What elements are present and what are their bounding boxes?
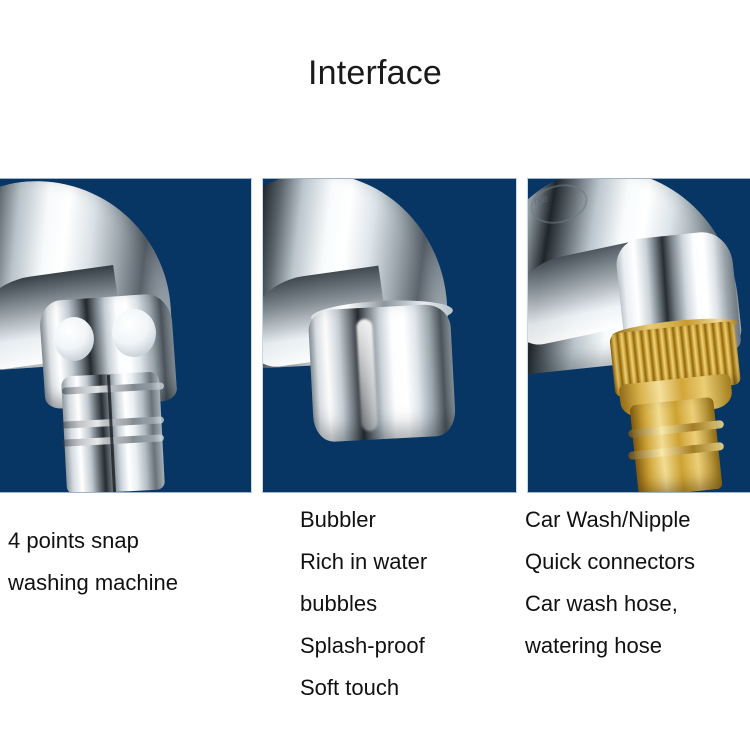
faucet-spout-arm-icon bbox=[527, 178, 744, 377]
product-image-panels: nile bbox=[0, 178, 750, 493]
brass-shoulder-icon bbox=[619, 373, 734, 419]
caption-column-bubbler: Bubbler Rich in water bubbles Splash-pro… bbox=[300, 493, 520, 709]
caption-line: Splash-proof bbox=[300, 625, 520, 667]
panel-divider-2 bbox=[517, 178, 527, 493]
brass-ring-upper-icon bbox=[628, 420, 724, 438]
bubbler-cap-highlight-icon bbox=[356, 319, 378, 432]
brass-ring-lower-icon bbox=[628, 442, 724, 460]
barrel-ring-low-icon bbox=[62, 434, 164, 446]
product-image-panel-car-wash-nipple: nile bbox=[527, 178, 750, 493]
caption-line: Car Wash/Nipple bbox=[525, 499, 750, 541]
caption-line: Quick connectors bbox=[525, 541, 750, 583]
barrel-ring-mid-icon bbox=[62, 416, 164, 428]
caption-line: Bubbler bbox=[300, 499, 520, 541]
bubbler-cap-rim-icon bbox=[310, 297, 453, 330]
snap-button-right-icon bbox=[112, 309, 156, 357]
caption-line: Soft touch bbox=[300, 667, 520, 709]
product-image-panel-bubbler bbox=[262, 178, 517, 493]
brass-knurl-rim-icon bbox=[612, 314, 739, 343]
barrel-ring-top-icon bbox=[62, 382, 164, 394]
chrome-spout-tip-icon bbox=[614, 229, 742, 362]
caption-line: washing machine bbox=[8, 562, 252, 604]
brass-knurled-nut-icon bbox=[609, 321, 741, 398]
caption-line: bubbles bbox=[300, 583, 520, 625]
caption-line: watering hose bbox=[525, 625, 750, 667]
page-title: Interface bbox=[0, 52, 750, 94]
panel-divider-1 bbox=[252, 178, 262, 493]
faucet-spout-underside-icon bbox=[527, 242, 645, 349]
faucet-spout-arm-icon bbox=[262, 178, 450, 371]
brand-engraving-label: nile bbox=[533, 194, 549, 208]
caption-line: Rich in water bbox=[300, 541, 520, 583]
bubbler-aerator-cap-icon bbox=[308, 303, 457, 442]
snap-button-left-icon bbox=[54, 317, 94, 361]
caption-line: Car wash hose, bbox=[525, 583, 750, 625]
barrel-seam-icon bbox=[107, 375, 116, 493]
caption-columns: 4 points snap washing machine Bubbler Ri… bbox=[0, 493, 750, 750]
caption-column-car-wash-nipple: Car Wash/Nipple Quick connectors Car was… bbox=[525, 493, 750, 667]
caption-line: 4 points snap bbox=[8, 520, 252, 562]
faucet-spout-underside-icon bbox=[262, 266, 390, 371]
product-image-panel-4-point-snap bbox=[0, 178, 252, 493]
caption-column-4-point-snap: 4 points snap washing machine bbox=[8, 493, 252, 604]
